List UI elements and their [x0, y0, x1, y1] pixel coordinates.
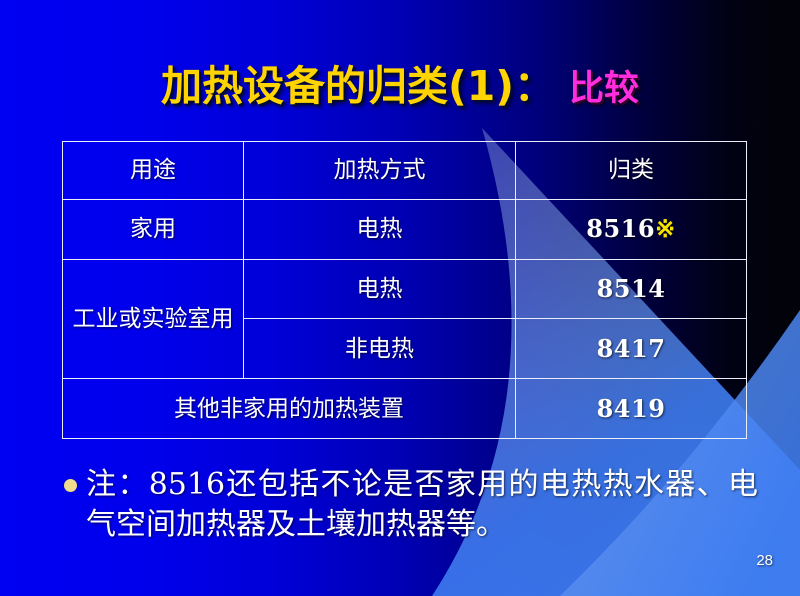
classification-table-wrapper: 用途 加热方式 归类 家用 电热 8516※ 工业或实验室用 电热 8514 非… — [62, 141, 746, 439]
footnote-marker-icon: ※ — [655, 214, 676, 243]
bullet-icon — [64, 479, 77, 492]
cell-code-8419: 8419 — [516, 379, 747, 439]
cell-method-non-electric: 非电热 — [244, 319, 516, 379]
slide-title: 加热设备的归类(1)：比较 — [0, 52, 800, 112]
table-header-use: 用途 — [63, 142, 244, 200]
cell-method-electric: 电热 — [244, 199, 516, 259]
table-row: 工业或实验室用 电热 8514 — [63, 259, 747, 319]
table-header-method: 加热方式 — [244, 142, 516, 200]
cell-code-8417: 8417 — [516, 319, 747, 379]
table-header-code: 归类 — [516, 142, 747, 200]
title-accent-text: 比较 — [569, 69, 639, 109]
footnote-text: 注：8516还包括不论是否家用的电热热水器、电气空间加热器及土壤加热器等。 — [86, 465, 758, 544]
classification-table: 用途 加热方式 归类 家用 电热 8516※ 工业或实验室用 电热 8514 非… — [62, 141, 747, 439]
cell-use-other-non-household: 其他非家用的加热装置 — [63, 379, 516, 439]
table-row: 其他非家用的加热装置 8419 — [63, 379, 747, 439]
table-row: 家用 电热 8516※ — [63, 199, 747, 259]
slide-canvas: 加热设备的归类(1)：比较 用途 加热方式 归类 家用 电热 8516※ 工业或… — [0, 0, 800, 596]
cell-use-industrial-lab: 工业或实验室用 — [63, 259, 244, 379]
table-header-row: 用途 加热方式 归类 — [63, 142, 747, 200]
cell-method-electric-2: 电热 — [244, 259, 516, 319]
code-value: 8516 — [586, 214, 655, 243]
cell-code-8514: 8514 — [516, 259, 747, 319]
cell-code-8516: 8516※ — [516, 199, 747, 259]
footnote: 注：8516还包括不论是否家用的电热热水器、电气空间加热器及土壤加热器等。 — [64, 465, 764, 544]
page-number: 28 — [756, 552, 773, 569]
title-main-text: 加热设备的归类(1)： — [161, 62, 555, 110]
cell-use-household: 家用 — [63, 199, 244, 259]
